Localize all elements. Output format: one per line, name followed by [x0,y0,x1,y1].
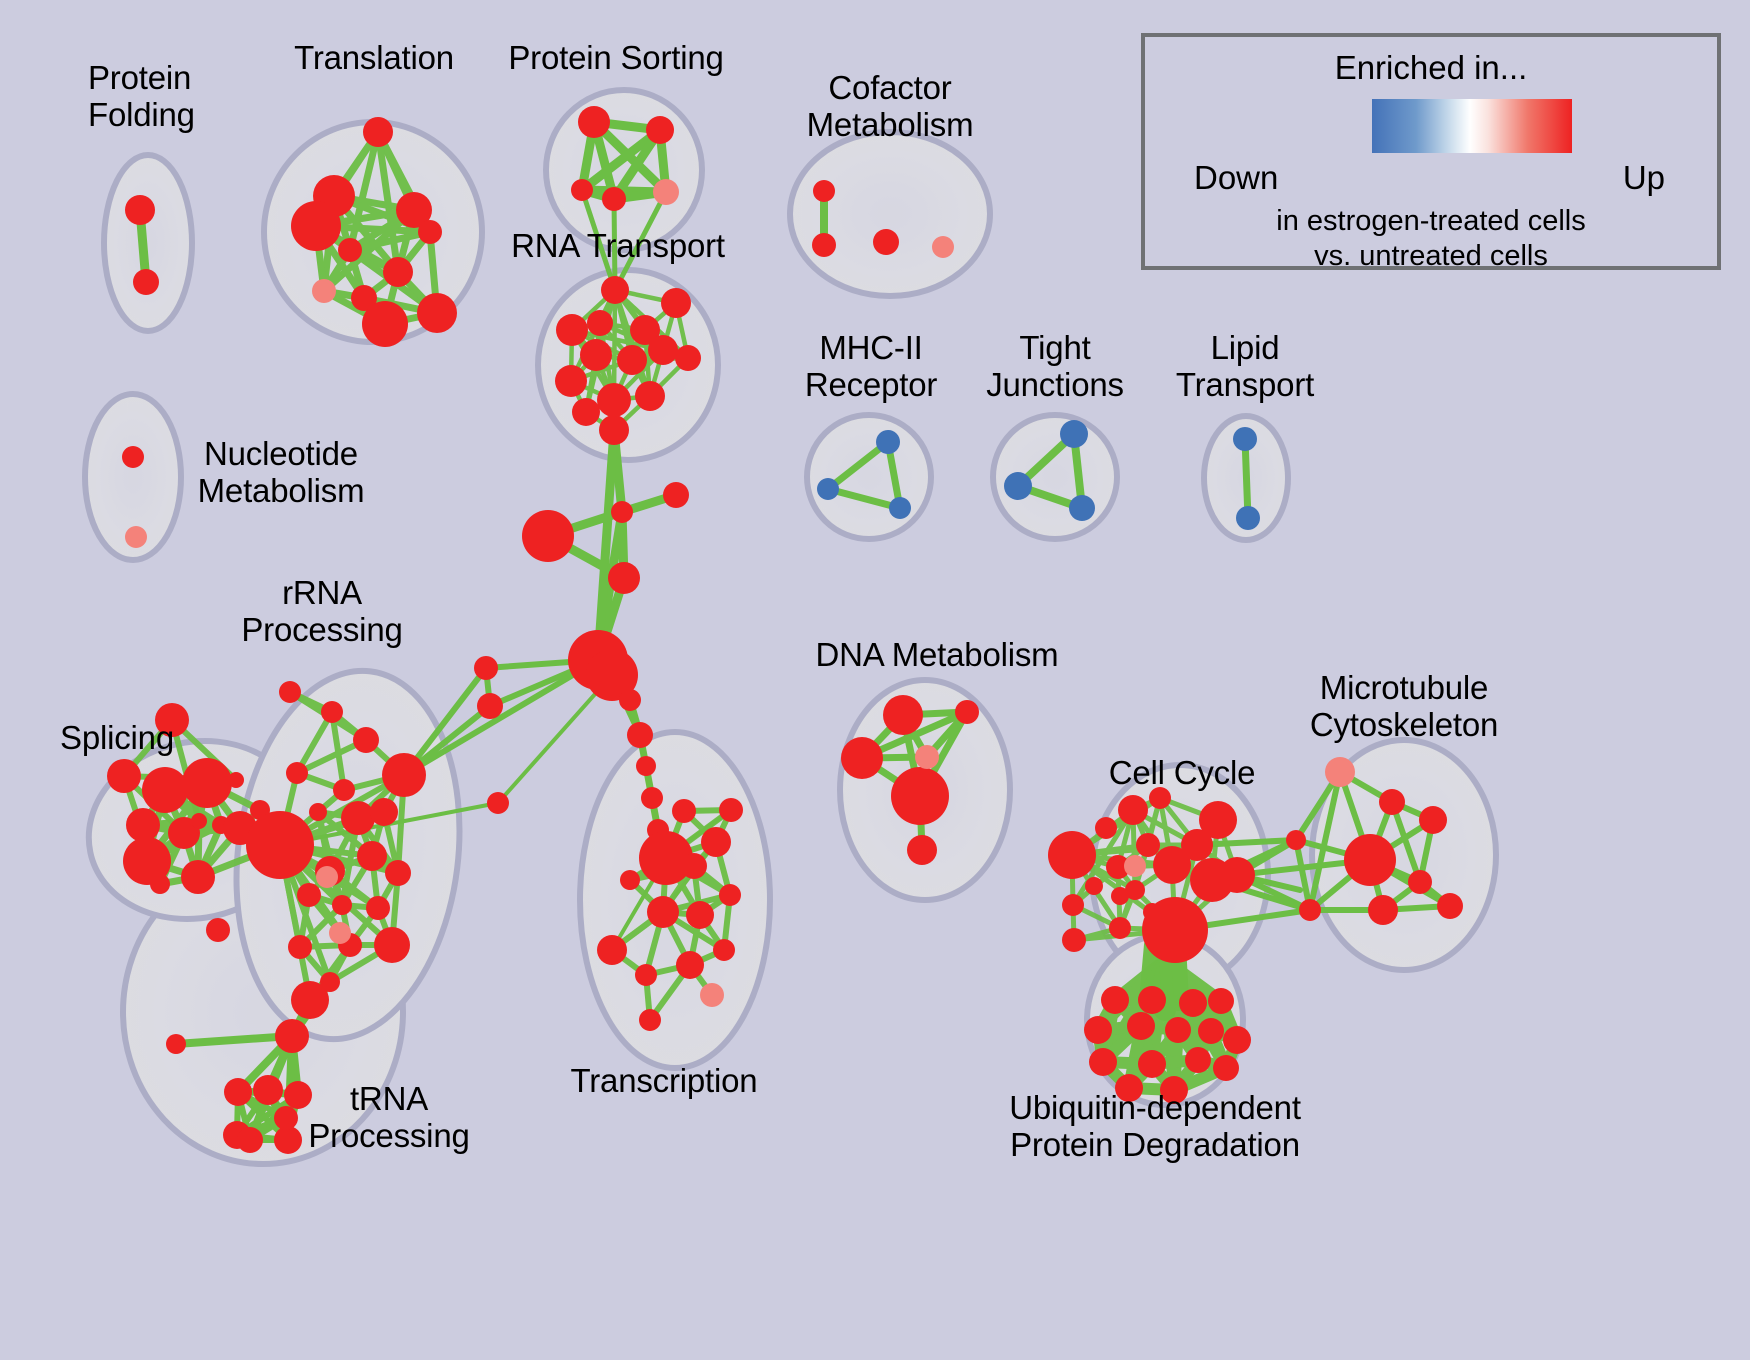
node [646,116,674,144]
node [1233,427,1257,451]
hull-mhc-ii-receptor [807,415,931,539]
node [1085,877,1103,895]
node [333,779,355,801]
cluster-label-trna-processing: tRNA Processing [308,1081,469,1155]
cluster-label-rna-transport: RNA Transport [511,228,725,265]
node [602,187,626,211]
node [713,939,735,961]
cluster-label-rrna-processing: rRNA Processing [241,575,402,649]
hull-protein-sorting [546,90,702,250]
node [653,179,679,205]
legend-title: Enriched in... [1145,49,1717,87]
node [291,981,329,1019]
cluster-label-lipid-transport: Lipid Transport [1176,330,1314,404]
cluster-label-protein-sorting: Protein Sorting [508,40,723,77]
node [580,339,612,371]
node [1185,1047,1211,1073]
node [150,874,170,894]
node [1069,495,1095,521]
node [1208,988,1234,1014]
node [107,759,141,793]
node [676,951,704,979]
node [125,195,155,225]
node [1062,928,1086,952]
node [1368,895,1398,925]
hull-transcription [580,732,770,1068]
node [126,808,160,842]
node [1138,1050,1166,1078]
node [522,510,574,562]
node [647,896,679,928]
node [611,501,633,523]
node [681,853,707,879]
node [587,310,613,336]
node [122,446,144,468]
node [1223,1026,1251,1054]
node [1419,806,1447,834]
node [661,288,691,318]
legend-panel: Enriched in... Down Up in estrogen-treat… [1141,33,1721,270]
node [487,792,509,814]
node [599,415,629,445]
node [1136,833,1160,857]
node [291,201,341,251]
node [891,767,949,825]
node [675,345,701,371]
node [597,935,627,965]
node [166,1034,186,1054]
node [883,695,923,735]
node [1165,1017,1191,1043]
cluster-label-dna-metabolism: DNA Metabolism [816,637,1059,674]
node [639,1009,661,1031]
node [1060,420,1088,448]
node [329,922,351,944]
node [370,798,398,826]
node [1111,887,1129,905]
node [812,233,836,257]
node [648,335,678,365]
legend-low-label: Down [1194,159,1278,197]
node [181,860,215,894]
node [385,860,411,886]
node [1179,989,1207,1017]
node [182,758,232,808]
node [383,257,413,287]
node [686,901,714,929]
node [841,737,883,779]
cluster-label-protein-folding: Protein Folding [88,60,195,134]
legend-subtitle-line1: in estrogen-treated cells [1145,205,1717,238]
node [279,681,301,703]
node [571,179,593,201]
node [876,430,900,454]
node [619,689,641,711]
node [1286,830,1306,850]
node [1213,1055,1239,1081]
node [206,918,230,942]
node [1101,986,1129,1014]
legend-color-gradient-bar [1372,99,1572,153]
node [286,762,308,784]
node [332,895,352,915]
node [719,798,743,822]
enrichment-map-figure: Protein FoldingTranslationProtein Sortin… [0,0,1750,1360]
node [125,526,147,548]
node [617,345,647,375]
node [1299,899,1321,921]
node [1048,831,1096,879]
node [338,238,362,262]
node [635,381,665,411]
node [701,827,731,857]
node [700,983,724,1007]
node [275,1019,309,1053]
node [1124,855,1146,877]
cluster-label-tight-junctions: Tight Junctions [986,330,1124,404]
node [297,883,321,907]
node [1236,506,1260,530]
node [321,701,343,723]
legend-high-label: Up [1623,159,1665,197]
node [627,722,653,748]
node [555,365,587,397]
cluster-label-cofactor-metabolism: Cofactor Metabolism [807,70,974,144]
node [1089,1048,1117,1076]
node [133,269,159,295]
node [1004,472,1032,500]
node [363,117,393,147]
node [417,293,457,333]
node [1219,857,1255,893]
node [357,841,387,871]
node [1198,1018,1224,1044]
node [663,482,689,508]
node [955,700,979,724]
node [1084,1016,1112,1044]
node [620,870,640,890]
node [1109,917,1131,939]
node [1344,834,1396,886]
node [572,398,600,426]
node [635,964,657,986]
node [312,279,336,303]
node [474,656,498,680]
node [1118,795,1148,825]
node [224,1078,252,1106]
cluster-label-cell-cycle: Cell Cycle [1109,755,1256,792]
node [719,884,741,906]
node [601,276,629,304]
node [641,787,663,809]
legend-subtitle-line2: vs. untreated cells [1145,240,1717,273]
node [274,1126,302,1154]
cluster-label-translation: Translation [294,40,454,77]
node [253,1075,283,1105]
node [1325,757,1355,787]
node [309,803,327,821]
cluster-label-mhc-ii-receptor: MHC-II Receptor [805,330,937,404]
node [889,497,911,519]
node [477,693,503,719]
cluster-label-ubiquitin-protein-degradation: Ubiquitin-dependent Protein Degradation [1009,1090,1301,1164]
node [1408,870,1432,894]
node [316,866,338,888]
node [1143,903,1161,921]
node [1062,894,1084,916]
node [382,753,426,797]
node [672,799,696,823]
node [1138,986,1166,1014]
node [578,106,610,138]
node [915,745,939,769]
node [341,801,375,835]
node [1199,801,1237,839]
node [274,1106,298,1130]
node [362,301,408,347]
node [1379,789,1405,815]
node [597,383,631,417]
node [142,767,188,813]
node [1437,893,1463,919]
node [288,935,312,959]
node [813,180,835,202]
node [1127,1012,1155,1040]
node [246,811,314,879]
node [817,478,839,500]
cluster-label-transcription: Transcription [571,1063,758,1100]
cluster-label-microtubule-cytoskeleton: Microtubule Cytoskeleton [1310,670,1498,744]
node [191,813,207,829]
node [353,727,379,753]
cluster-label-splicing: Splicing [60,720,174,757]
node [907,835,937,865]
node [873,229,899,255]
node [932,236,954,258]
node [608,562,640,594]
node [418,220,442,244]
node [366,896,390,920]
hull-protein-folding [104,155,192,331]
node [636,756,656,776]
node [1095,817,1117,839]
node [556,314,588,346]
cluster-label-nucleotide-metabolism: Nucleotide Metabolism [198,436,365,510]
node [374,927,410,963]
node [237,1127,263,1153]
